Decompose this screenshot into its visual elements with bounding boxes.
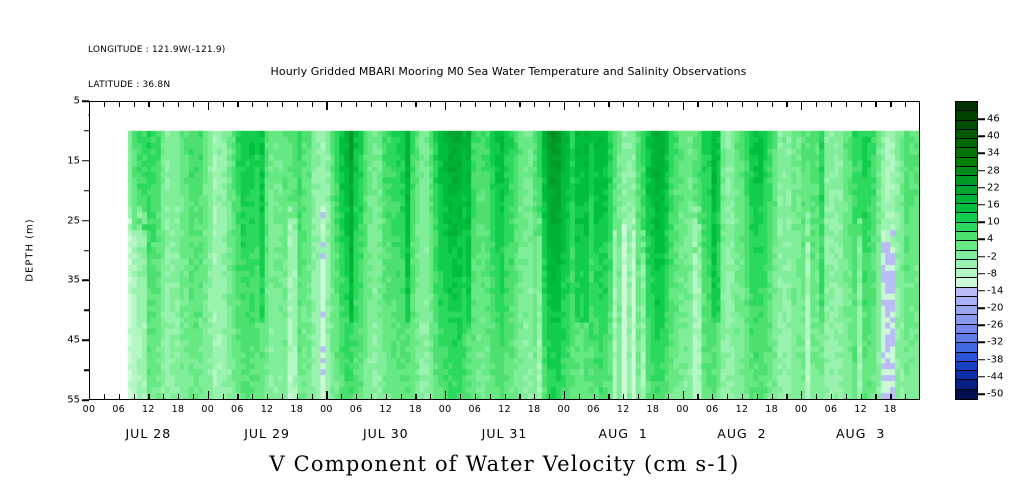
x-tick-mark [415, 394, 416, 400]
y-minor-tick [84, 190, 89, 192]
x-tick-mark [297, 394, 298, 400]
x-hour-label: 12 [498, 404, 511, 415]
x-tick-mark [119, 394, 120, 400]
colorbar-band [956, 167, 977, 176]
colorbar-band [956, 390, 977, 399]
x-tick-mark [653, 394, 654, 400]
x-tick-mark-top [163, 101, 164, 107]
x-tick-mark [816, 394, 817, 400]
colorbar-band [956, 111, 977, 120]
x-hour-label: 12 [379, 404, 392, 415]
y-minor-tick [84, 310, 89, 312]
x-tick-mark-top [846, 101, 847, 107]
colorbar-band [956, 353, 977, 362]
x-hour-label: 18 [647, 404, 660, 415]
colorbar-band [956, 297, 977, 306]
x-tick-mark [386, 394, 387, 400]
colorbar-tick-label: -8 [987, 268, 997, 279]
colorbar-band [956, 251, 977, 260]
colorbar-band [956, 241, 977, 250]
x-tick-mark-top [608, 101, 609, 107]
x-tick-mark [890, 394, 891, 400]
x-tick-mark-top [801, 101, 802, 110]
colorbar-tick [978, 204, 985, 206]
colorbar-tick [978, 325, 985, 327]
y-minor-tick [84, 130, 89, 132]
x-tick-mark-top [282, 101, 283, 107]
colorbar [955, 101, 978, 400]
x-hour-label: 06 [112, 404, 125, 415]
y-tick-mark [82, 160, 89, 162]
x-tick-mark [193, 394, 194, 400]
x-tick-mark-top [401, 101, 402, 107]
colorbar-tick-label: -14 [987, 285, 1003, 296]
x-hour-label: 00 [439, 404, 452, 415]
y-tick-mark [82, 220, 89, 222]
x-hour-label: 06 [468, 404, 481, 415]
x-tick-mark-top [415, 101, 416, 107]
x-tick-mark-top [460, 101, 461, 107]
x-tick-mark [223, 394, 224, 400]
x-hour-label: 06 [825, 404, 838, 415]
colorbar-band [956, 204, 977, 213]
y-minor-tick [84, 369, 89, 371]
longitude-text: LONGITUDE : 121.9W(-121.9) [88, 45, 226, 57]
colorbar-band [956, 325, 977, 334]
x-tick-mark [846, 394, 847, 400]
y-tick-label: 5 [45, 96, 80, 107]
x-hour-label: 00 [676, 404, 689, 415]
colorbar-band [956, 306, 977, 315]
x-tick-mark [831, 394, 832, 400]
colorbar-tick-label: 46 [987, 114, 1000, 125]
x-tick-mark-top [297, 101, 298, 107]
x-tick-mark-top [148, 101, 149, 107]
colorbar-tick [978, 376, 985, 378]
x-tick-mark-top [816, 101, 817, 107]
x-hour-label: 18 [884, 404, 897, 415]
x-tick-mark [697, 394, 698, 400]
y-tick-mark [82, 100, 89, 102]
x-tick-mark-top [697, 101, 698, 107]
colorbar-tick [978, 393, 985, 395]
x-tick-mark [875, 394, 876, 400]
colorbar-tick-label: 4 [987, 234, 993, 245]
x-tick-mark [134, 394, 135, 400]
colorbar-band [956, 176, 977, 185]
x-tick-mark-top [772, 101, 773, 107]
colorbar-band [956, 362, 977, 371]
colorbar-tick-label: -2 [987, 251, 997, 262]
x-hour-label: 18 [172, 404, 185, 415]
colorbar-tick-label: -20 [987, 303, 1003, 314]
colorbar-tick-label: 28 [987, 165, 1000, 176]
x-tick-mark [430, 394, 431, 400]
colorbar-band [956, 315, 977, 324]
x-tick-mark-top [786, 101, 787, 107]
x-tick-mark-top [134, 101, 135, 107]
colorbar-tick [978, 118, 985, 120]
x-tick-mark [505, 394, 506, 400]
colorbar-band [956, 288, 977, 297]
colorbar-tick-label: 22 [987, 182, 1000, 193]
x-day-label: JUL 28 [126, 426, 172, 441]
x-tick-mark-top [237, 101, 238, 107]
colorbar-band [956, 371, 977, 380]
colorbar-tick [978, 342, 985, 344]
colorbar-band [956, 269, 977, 278]
x-day-label: AUG 2 [717, 426, 766, 441]
x-tick-mark-top [564, 101, 565, 110]
x-tick-mark-top [890, 101, 891, 107]
x-tick-mark [490, 394, 491, 400]
x-tick-mark [371, 394, 372, 400]
colorbar-tick-label: 40 [987, 131, 1000, 142]
x-tick-mark [594, 394, 595, 400]
x-tick-mark-top [594, 101, 595, 107]
x-day-label: JUL 31 [482, 426, 528, 441]
x-tick-mark [401, 394, 402, 400]
x-tick-mark-top [919, 101, 920, 110]
x-tick-mark [757, 394, 758, 400]
colorbar-band [956, 232, 977, 241]
colorbar-tick [978, 239, 985, 241]
y-tick-mark [82, 280, 89, 282]
x-hour-label: 12 [736, 404, 749, 415]
x-tick-mark [772, 394, 773, 400]
colorbar-tick [978, 273, 985, 275]
x-day-label: JUL 29 [244, 426, 290, 441]
x-tick-mark [742, 394, 743, 400]
colorbar-tick [978, 170, 985, 172]
figure-caption: V Component of Water Velocity (cm s-1) [0, 452, 1009, 476]
colorbar-band [956, 278, 977, 287]
x-hour-label: 06 [587, 404, 600, 415]
colorbar-band [956, 195, 977, 204]
colorbar-tick [978, 153, 985, 155]
x-tick-mark-top [757, 101, 758, 107]
colorbar-tick [978, 307, 985, 309]
x-tick-mark [326, 391, 327, 400]
colorbar-band [956, 343, 977, 352]
colorbar-band [956, 130, 977, 139]
x-hour-label: 06 [350, 404, 363, 415]
x-hour-label: 00 [557, 404, 570, 415]
x-hour-label: 06 [231, 404, 244, 415]
latitude-text: LATITUDE : 36.8N [88, 80, 226, 92]
x-tick-mark-top [668, 101, 669, 107]
x-tick-mark [608, 394, 609, 400]
colorbar-band [956, 139, 977, 148]
x-tick-mark [341, 394, 342, 400]
x-tick-mark [683, 391, 684, 400]
x-tick-mark-top [475, 101, 476, 107]
x-hour-label: 18 [765, 404, 778, 415]
x-tick-mark [712, 394, 713, 400]
x-tick-mark-top [178, 101, 179, 107]
x-tick-mark [549, 394, 550, 400]
x-tick-mark [801, 391, 802, 400]
x-tick-mark [534, 394, 535, 400]
x-tick-mark [104, 394, 105, 400]
x-tick-mark-top [326, 101, 327, 110]
y-tick-mark [82, 339, 89, 341]
x-tick-mark-top [89, 101, 90, 110]
colorbar-tick-label: -50 [987, 389, 1003, 400]
heatmap-field [90, 102, 919, 399]
x-hour-label: 00 [795, 404, 808, 415]
colorbar-tick [978, 290, 985, 292]
x-tick-mark-top [519, 101, 520, 107]
x-tick-mark-top [683, 101, 684, 110]
colorbar-tick [978, 221, 985, 223]
x-tick-mark [861, 394, 862, 400]
x-tick-mark-top [727, 101, 728, 107]
x-hour-label: 00 [320, 404, 333, 415]
x-tick-mark-top [653, 101, 654, 107]
colorbar-band [956, 158, 977, 167]
x-tick-mark [445, 391, 446, 400]
x-hour-label: 06 [706, 404, 719, 415]
x-tick-mark [208, 391, 209, 400]
x-tick-mark-top [356, 101, 357, 107]
x-tick-mark-top [312, 101, 313, 107]
y-axis-label: DEPTH (m) [25, 218, 36, 281]
colorbar-band [956, 223, 977, 232]
colorbar-tick-label: -38 [987, 354, 1003, 365]
x-hour-label: 12 [261, 404, 274, 415]
x-tick-mark [148, 394, 149, 400]
colorbar-tick-label: 34 [987, 148, 1000, 159]
x-tick-mark-top [861, 101, 862, 107]
x-tick-mark-top [534, 101, 535, 107]
x-tick-mark [282, 394, 283, 400]
x-tick-mark [905, 394, 906, 400]
x-tick-mark-top [445, 101, 446, 110]
x-hour-label: 12 [617, 404, 630, 415]
colorbar-tick [978, 187, 985, 189]
x-tick-mark-top [905, 101, 906, 107]
x-tick-mark [252, 394, 253, 400]
y-tick-label: 25 [45, 215, 80, 226]
x-tick-mark [786, 394, 787, 400]
x-tick-mark-top [341, 101, 342, 107]
x-tick-mark [356, 394, 357, 400]
x-tick-mark [267, 394, 268, 400]
colorbar-band [956, 186, 977, 195]
x-tick-mark-top [505, 101, 506, 107]
x-hour-label: 12 [854, 404, 867, 415]
x-tick-mark-top [208, 101, 209, 110]
x-tick-mark [727, 394, 728, 400]
x-hour-label: 12 [142, 404, 155, 415]
x-hour-label: 18 [528, 404, 541, 415]
x-tick-mark [668, 394, 669, 400]
y-minor-tick [84, 250, 89, 252]
y-tick-mark [82, 399, 89, 401]
colorbar-band [956, 213, 977, 222]
x-tick-mark [919, 391, 920, 400]
x-tick-mark [623, 394, 624, 400]
x-tick-mark [519, 394, 520, 400]
plot-area [89, 101, 920, 400]
x-tick-mark [89, 391, 90, 400]
colorbar-band [956, 380, 977, 389]
plot-title: Hourly Gridded MBARI Mooring M0 Sea Wate… [0, 65, 1009, 78]
x-tick-mark [460, 394, 461, 400]
x-tick-mark-top [193, 101, 194, 107]
x-tick-mark-top [638, 101, 639, 107]
x-hour-label: 18 [409, 404, 422, 415]
colorbar-tick-label: -26 [987, 320, 1003, 331]
colorbar-tick [978, 135, 985, 137]
x-tick-mark-top [386, 101, 387, 107]
x-tick-mark-top [490, 101, 491, 107]
x-hour-label: 00 [201, 404, 214, 415]
x-tick-mark-top [579, 101, 580, 107]
y-tick-label: 55 [45, 395, 80, 406]
x-tick-mark-top [252, 101, 253, 107]
x-hour-label: 00 [83, 404, 96, 415]
colorbar-tick [978, 256, 985, 258]
x-tick-mark-top [831, 101, 832, 107]
x-tick-mark-top [623, 101, 624, 107]
x-tick-mark-top [712, 101, 713, 107]
x-tick-mark-top [875, 101, 876, 107]
colorbar-tick-label: 10 [987, 217, 1000, 228]
x-tick-mark-top [742, 101, 743, 107]
x-day-label: AUG 1 [599, 426, 648, 441]
x-day-label: AUG 3 [836, 426, 885, 441]
x-tick-mark-top [371, 101, 372, 107]
colorbar-tick-label: 16 [987, 199, 1000, 210]
colorbar-tick [978, 359, 985, 361]
x-tick-mark [237, 394, 238, 400]
colorbar-band [956, 334, 977, 343]
y-tick-label: 35 [45, 275, 80, 286]
plot-title-text: Hourly Gridded MBARI Mooring M0 Sea Wate… [271, 65, 747, 78]
colorbar-band [956, 102, 977, 111]
x-tick-mark [638, 394, 639, 400]
x-tick-mark [312, 394, 313, 400]
x-tick-mark-top [267, 101, 268, 107]
x-tick-mark-top [119, 101, 120, 107]
colorbar-band [956, 121, 977, 130]
x-tick-mark [564, 391, 565, 400]
colorbar-band [956, 148, 977, 157]
x-hour-label: 18 [290, 404, 303, 415]
x-tick-mark [579, 394, 580, 400]
colorbar-tick-label: -44 [987, 371, 1003, 382]
x-day-label: JUL 30 [363, 426, 409, 441]
colorbar-band [956, 260, 977, 269]
x-tick-mark [163, 394, 164, 400]
y-tick-label: 45 [45, 335, 80, 346]
y-tick-label: 15 [45, 155, 80, 166]
x-tick-mark-top [430, 101, 431, 107]
x-tick-mark [178, 394, 179, 400]
x-tick-mark [475, 394, 476, 400]
colorbar-tick-label: -32 [987, 337, 1003, 348]
x-tick-mark-top [223, 101, 224, 107]
x-tick-mark-top [104, 101, 105, 107]
x-tick-mark-top [549, 101, 550, 107]
